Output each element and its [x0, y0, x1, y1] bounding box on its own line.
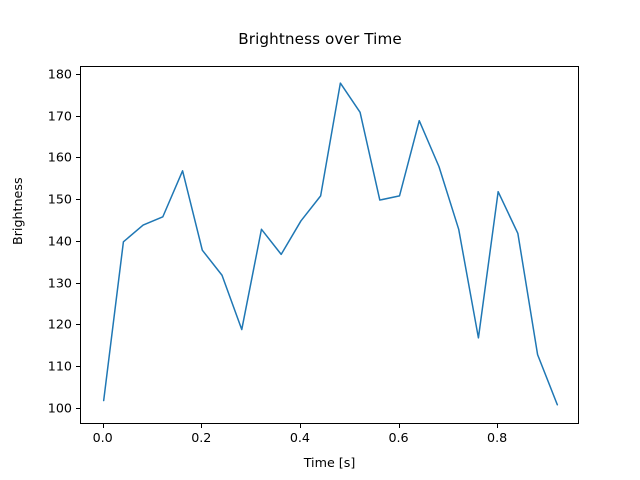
- x-tick-label: 0.8: [467, 430, 527, 445]
- x-tick-label: 0.2: [171, 430, 231, 445]
- x-axis-label: Time [s]: [80, 455, 579, 470]
- plot-area: [80, 66, 579, 424]
- brightness-line: [104, 83, 558, 405]
- y-tick-label: 160: [12, 150, 72, 165]
- y-tick-label: 170: [12, 108, 72, 123]
- data-line-series: [81, 67, 580, 425]
- x-tick-label: 0.0: [73, 430, 133, 445]
- y-axis-label: Brightness: [10, 177, 25, 245]
- y-tick-label: 130: [12, 275, 72, 290]
- matplotlib-figure: Brightness over Time Brightness Time [s]…: [0, 0, 640, 480]
- y-tick-label: 120: [12, 317, 72, 332]
- y-tick-label: 180: [12, 66, 72, 81]
- chart-title: Brightness over Time: [0, 30, 640, 48]
- x-tick-label: 0.6: [369, 430, 429, 445]
- x-tick-label: 0.4: [270, 430, 330, 445]
- y-tick-label: 110: [12, 359, 72, 374]
- y-tick-label: 100: [12, 400, 72, 415]
